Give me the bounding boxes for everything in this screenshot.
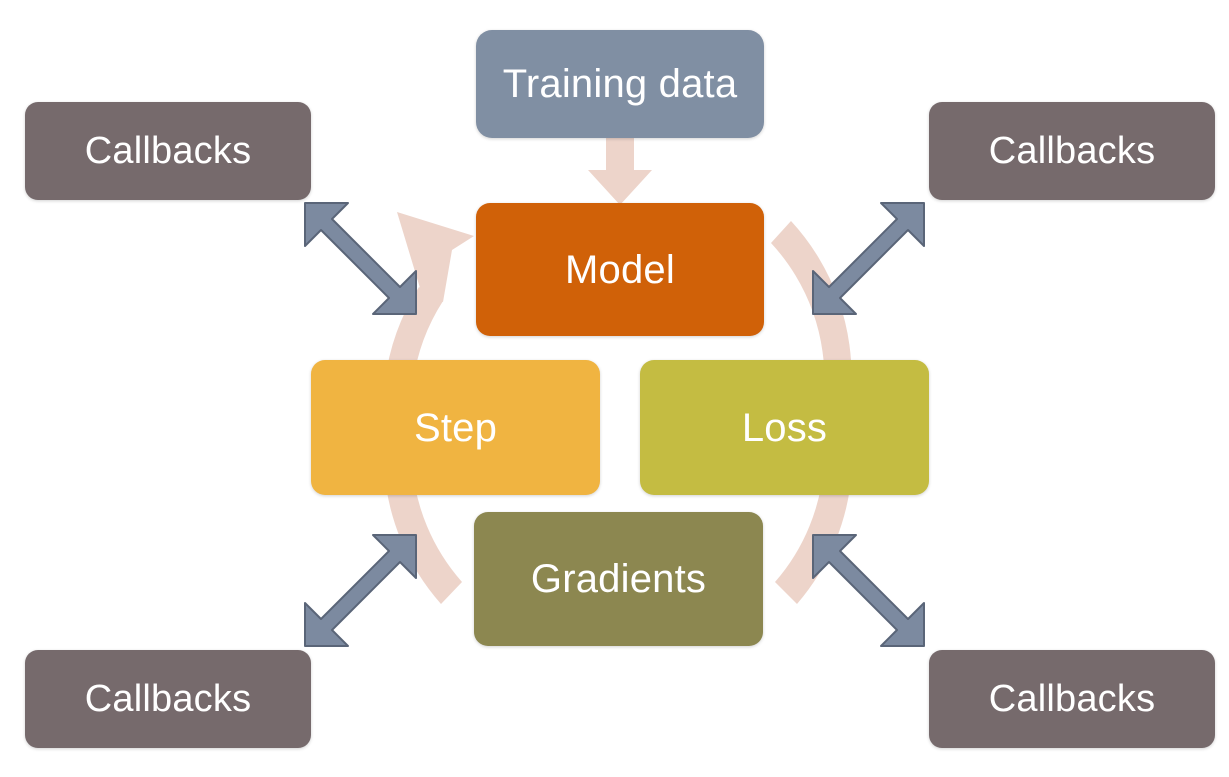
node-step-label: Step <box>414 408 497 448</box>
node-model-label: Model <box>565 250 675 290</box>
training-data-to-model-arrow <box>588 138 652 205</box>
node-callbacks-bottom-left[interactable]: Callbacks <box>25 650 311 748</box>
callbacks-bottom-left-link[interactable] <box>305 535 416 646</box>
node-gradients[interactable]: Gradients <box>474 512 763 646</box>
node-training-data[interactable]: Training data <box>476 30 764 138</box>
node-callbacks-bottom-right[interactable]: Callbacks <box>929 650 1215 748</box>
node-callbacks-top-left-label: Callbacks <box>85 132 252 170</box>
node-callbacks-top-right-label: Callbacks <box>989 132 1156 170</box>
node-model[interactable]: Model <box>476 203 764 336</box>
node-loss-label: Loss <box>742 408 827 448</box>
callbacks-bottom-right-link[interactable] <box>813 535 924 646</box>
node-loss[interactable]: Loss <box>640 360 929 495</box>
node-callbacks-bottom-right-label: Callbacks <box>989 680 1156 718</box>
diagram-canvas: Training data Model Step Loss Gradients … <box>0 0 1229 777</box>
callbacks-top-right-link[interactable] <box>813 203 924 314</box>
node-training-data-label: Training data <box>503 64 738 104</box>
node-callbacks-bottom-left-label: Callbacks <box>85 680 252 718</box>
node-gradients-label: Gradients <box>531 559 706 599</box>
node-step[interactable]: Step <box>311 360 600 495</box>
node-callbacks-top-right[interactable]: Callbacks <box>929 102 1215 200</box>
node-callbacks-top-left[interactable]: Callbacks <box>25 102 311 200</box>
